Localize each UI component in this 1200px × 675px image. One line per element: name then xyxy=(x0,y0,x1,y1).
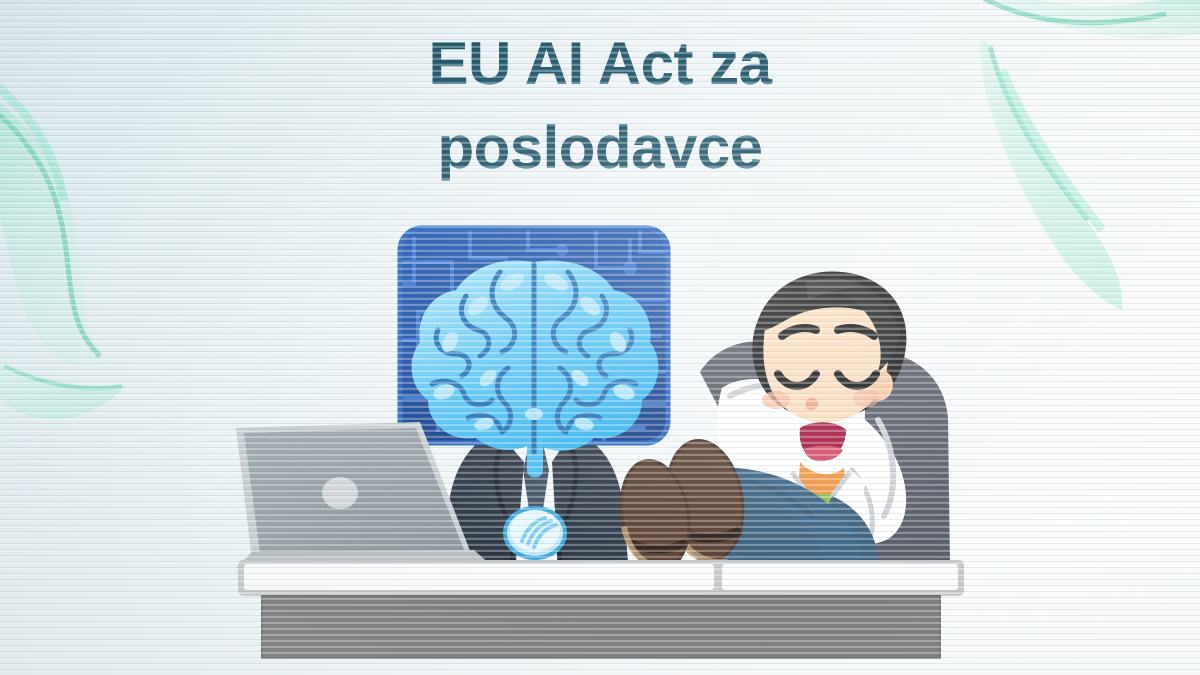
desk-front-panel xyxy=(262,596,940,658)
ai-robot-hand xyxy=(505,508,565,558)
desk xyxy=(238,560,964,658)
title-line-1: EU AI Act za xyxy=(0,22,1200,106)
title-line-2: poslodavce xyxy=(0,106,1200,190)
slide-canvas: EU AI Act za poslodavce xyxy=(0,0,1200,675)
page-title: EU AI Act za poslodavce xyxy=(0,22,1200,190)
laptop-logo xyxy=(322,477,358,509)
